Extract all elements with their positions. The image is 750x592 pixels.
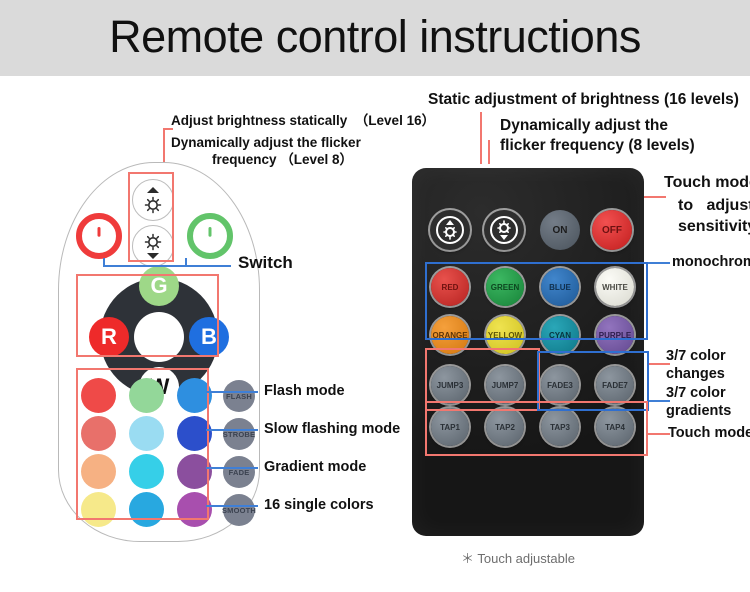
leader-smooth: [206, 505, 258, 507]
instruction-diagram: Remote control instructions Adjust brigh…: [0, 0, 750, 592]
brightness-up-icon: [435, 215, 465, 245]
footnote-touch-adjustable: ＊ Touch adjustable: [461, 548, 575, 567]
brightness-up-button[interactable]: [430, 210, 470, 250]
smooth-button[interactable]: SMOOTH: [223, 494, 255, 526]
leader-touch-mode: [648, 433, 670, 435]
leader-switch-v2: [185, 258, 187, 266]
brightness-down-icon: [489, 215, 519, 245]
highlight-monochrome-buttons: [425, 262, 648, 340]
leader-switch-h: [103, 265, 231, 267]
label-16-single-colors: 16 single colors: [264, 497, 374, 513]
leader-flash: [206, 391, 258, 393]
leader-monochrome: [648, 262, 670, 264]
label-flicker-dynamic-right-2: flicker frequency (8 levels): [500, 138, 695, 154]
leader-fade: [206, 467, 258, 469]
label-flicker-dynamic-left-2: frequency （Level 8）: [212, 152, 353, 168]
highlight-rgbw-pad: [76, 274, 219, 357]
label-switch: Switch: [238, 255, 293, 271]
label-touch-sensitivity-1: Touch mode: [664, 175, 750, 191]
brightness-down-button[interactable]: [484, 210, 524, 250]
off-label: OFF: [602, 225, 622, 236]
power-on-button[interactable]: [187, 213, 233, 259]
leader-brightness-static-h: [163, 128, 173, 130]
power-icon: [90, 227, 108, 245]
on-label: ON: [553, 225, 568, 236]
highlight-tap-buttons: [425, 401, 648, 456]
label-flash-mode: Flash mode: [264, 383, 345, 399]
leader-switch-v1: [103, 258, 105, 266]
leader-static-right-v: [480, 112, 482, 164]
highlight-brightness-buttons: [128, 172, 174, 262]
label-monochrome: monochrome: [672, 254, 750, 270]
power-off-button[interactable]: [76, 213, 122, 259]
leader-touch-sensitivity: [644, 196, 666, 198]
leader-flicker-right-v: [488, 140, 490, 164]
label-color-gradients-2: gradients: [666, 403, 731, 419]
label-flicker-dynamic-right-1: Dynamically adjust the: [500, 118, 668, 134]
label-touch-sensitivity-3: sensitivity: [678, 219, 750, 235]
label-touch-sensitivity-2: to adjust: [678, 198, 750, 214]
label-color-changes-2: changes: [666, 366, 725, 382]
label-brightness-static-left: Adjust brightness statically （Level 16）: [171, 113, 435, 129]
highlight-color-swatches: [76, 368, 209, 520]
label-slow-flashing-mode: Slow flashing mode: [264, 421, 400, 437]
leader-strobe: [206, 429, 258, 431]
label-color-gradients-1: 3/7 color: [666, 385, 726, 401]
label-gradient-mode: Gradient mode: [264, 459, 366, 475]
strobe-button[interactable]: STROBE: [223, 418, 255, 450]
label-touch-mode: Touch mode: [668, 425, 750, 441]
label-brightness-static-right: Static adjustment of brightness (16 leve…: [428, 92, 739, 108]
fade-button[interactable]: FADE: [223, 456, 255, 488]
on-button[interactable]: ON: [540, 210, 580, 250]
label-color-changes-1: 3/7 color: [666, 348, 726, 364]
page-title: Remote control instructions: [0, 4, 750, 70]
power-icon: [201, 227, 219, 245]
off-button[interactable]: OFF: [592, 210, 632, 250]
flash-button[interactable]: FLASH: [223, 380, 255, 412]
label-flicker-dynamic-left-1: Dynamically adjust the flicker: [171, 135, 361, 151]
